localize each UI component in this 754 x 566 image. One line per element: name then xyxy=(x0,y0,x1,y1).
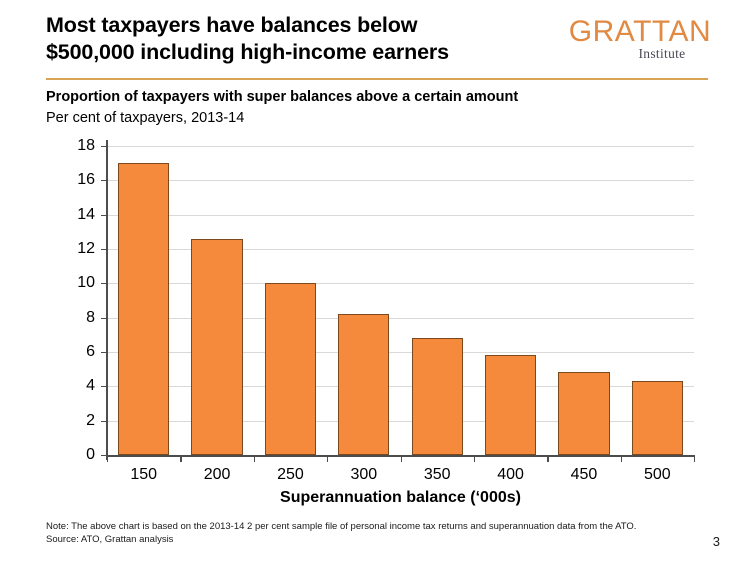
x-axis-label-150: 150 xyxy=(107,466,181,484)
x-axis-label-350: 350 xyxy=(400,466,474,484)
y-axis-label-2: 2 xyxy=(53,413,95,429)
y-axis-label-0: 0 xyxy=(53,447,95,463)
bar-400 xyxy=(485,355,536,455)
bar-250 xyxy=(265,283,316,455)
x-axis-label-400: 400 xyxy=(474,466,548,484)
bar-150 xyxy=(118,163,169,455)
y-axis-label-8: 8 xyxy=(53,310,95,326)
y-axis-label-14: 14 xyxy=(53,207,95,223)
y-axis-label-18: 18 xyxy=(53,138,95,154)
x-axis-tick-3 xyxy=(327,455,328,462)
x-axis-label-200: 200 xyxy=(180,466,254,484)
bar-350 xyxy=(412,338,463,455)
x-axis-tick-7 xyxy=(621,455,622,462)
x-axis-label-250: 250 xyxy=(253,466,327,484)
bar-chart: Superannuation balance (‘000s) 024681012… xyxy=(0,0,754,566)
chart-plot-area xyxy=(107,146,694,455)
footer-note: Note: The above chart is based on the 20… xyxy=(46,521,711,534)
bar-500 xyxy=(632,381,683,455)
x-axis-tick-4 xyxy=(401,455,402,462)
x-axis-tick-2 xyxy=(254,455,255,462)
gridline-18 xyxy=(107,146,694,147)
x-axis-tick-1 xyxy=(180,455,181,462)
x-axis-tick-end xyxy=(694,455,695,462)
x-axis-tick-6 xyxy=(547,455,548,462)
x-axis-tick-0 xyxy=(107,455,108,462)
slide-root: Most taxpayers have balances below $500,… xyxy=(0,0,754,566)
x-axis-label-450: 450 xyxy=(547,466,621,484)
x-axis-label-500: 500 xyxy=(620,466,694,484)
footer-notes: Note: The above chart is based on the 20… xyxy=(46,521,711,546)
y-axis-label-12: 12 xyxy=(53,241,95,257)
y-axis-label-4: 4 xyxy=(53,378,95,394)
gridline-16 xyxy=(107,180,694,181)
y-axis-label-10: 10 xyxy=(53,275,95,291)
bar-300 xyxy=(338,314,389,455)
y-axis-label-16: 16 xyxy=(53,172,95,188)
page-number: 3 xyxy=(713,534,720,549)
x-axis-title: Superannuation balance (‘000s) xyxy=(107,489,694,507)
x-axis-tick-5 xyxy=(474,455,475,462)
y-axis-line xyxy=(106,140,108,460)
bar-450 xyxy=(558,372,609,455)
bar-200 xyxy=(191,239,242,455)
x-axis-label-300: 300 xyxy=(327,466,401,484)
gridline-14 xyxy=(107,215,694,216)
footer-source: Source: ATO, Grattan analysis xyxy=(46,534,711,547)
y-axis-label-6: 6 xyxy=(53,344,95,360)
